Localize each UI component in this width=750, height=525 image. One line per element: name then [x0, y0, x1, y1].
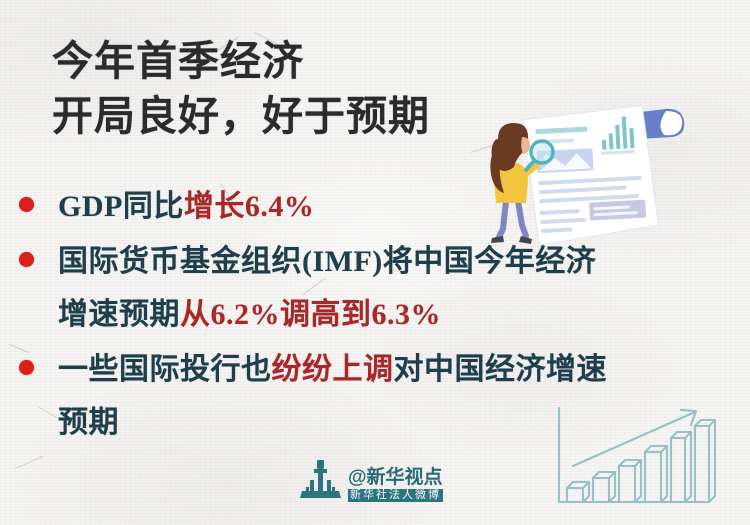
paper-scratch — [15, 456, 43, 469]
bullet-dot-icon — [19, 360, 34, 375]
xinhua-monument-icon — [300, 458, 342, 502]
bullet-line: 一些国际投行也纷纷上调对中国经济增速 — [58, 343, 750, 396]
bullet-text-segment: 增长6.4% — [184, 190, 315, 223]
bullet-line: GDP同比增长6.4% — [58, 180, 750, 233]
bullet-line: 国际货币基金组织(IMF)将中国今年经济 — [58, 235, 750, 288]
logo-subtitle: 新华社法人微博 — [348, 489, 443, 502]
logo-name: @新华视点 — [348, 468, 443, 487]
bullet-text-segment: 国际货币基金组织(IMF)将中国今年经济 — [58, 245, 596, 278]
watermark-logo: @新华视点 新华社法人微博 — [300, 458, 443, 502]
bullet-text-segment: 增速预期 — [58, 298, 180, 331]
bullet-text-segment: 预期 — [58, 406, 119, 439]
page-title: 今年首季经济 开局良好，好于预期 — [52, 34, 430, 144]
bullet-text-segment: 从6.2%调高到6.3% — [180, 298, 441, 331]
bullet-line: 增速预期从6.2%调高到6.3% — [58, 288, 750, 341]
bullet-text-segment: 对中国经济增速 — [394, 353, 608, 386]
bullet-text-segment: 纷纷上调 — [272, 353, 394, 386]
bullet-text-segment: 一些国际投行也 — [58, 353, 272, 386]
list-item: 一些国际投行也纷纷上调对中国经济增速 预期 — [0, 343, 750, 449]
page-title-line-2: 开局良好，好于预期 — [52, 89, 430, 144]
poster-canvas: 今年首季经济 开局良好，好于预期 GDP同比增长6.4% 国际货币基金组织(IM… — [0, 0, 750, 525]
list-item: GDP同比增长6.4% — [0, 180, 750, 233]
bullet-line: 预期 — [58, 396, 750, 449]
bullet-list: GDP同比增长6.4% 国际货币基金组织(IMF)将中国今年经济 增速预期从6.… — [0, 180, 750, 451]
bullet-text-segment: GDP同比 — [58, 190, 184, 223]
page-title-line-1: 今年首季经济 — [52, 34, 430, 89]
logo-text-block: @新华视点 新华社法人微博 — [348, 468, 443, 502]
bullet-dot-icon — [19, 197, 34, 212]
list-item: 国际货币基金组织(IMF)将中国今年经济 增速预期从6.2%调高到6.3% — [0, 235, 750, 341]
bullet-dot-icon — [19, 252, 34, 267]
